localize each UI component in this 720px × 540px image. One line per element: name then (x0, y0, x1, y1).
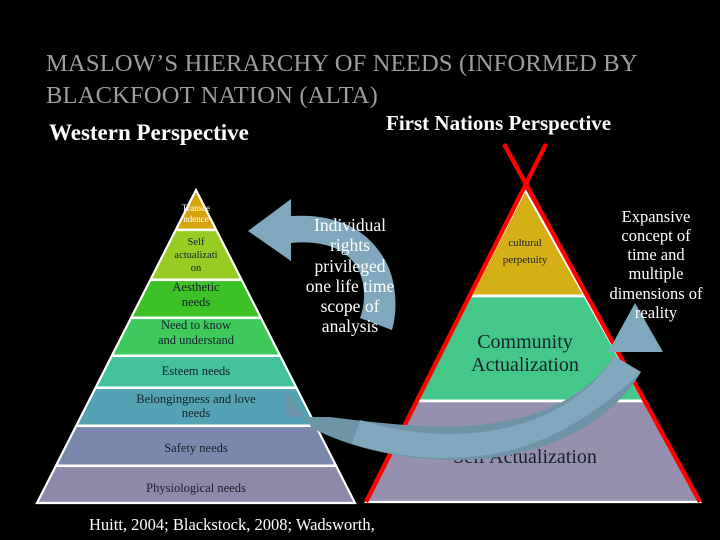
tier-label-community-actualization-line2: Actualization (471, 354, 579, 376)
citation-text: Huitt, 2004; Blackstock, 2008; Wadsworth… (89, 515, 375, 535)
tier-label-aesthetic-line1: Aesthetic (172, 280, 220, 294)
tier-label-safety-needs: Safety needs (164, 441, 228, 455)
tier-label-esteem-needs: Esteem needs (162, 364, 231, 378)
callout-first-nations: Expansive concept of time and multiple d… (596, 207, 716, 322)
tier-label-self-actualization-line3: on (191, 263, 202, 274)
tier-label-need-to-know-line1: Need to know (161, 318, 231, 332)
tier-label-belongingness-line1: Belongingness and love (136, 392, 256, 406)
tier-label-need-to-know-line2: and understand (158, 333, 235, 347)
tier-label-aesthetic-line2: needs (182, 295, 211, 309)
tier-label-self-actualization-line2: actualizati (174, 250, 217, 261)
tier-label-community-actualization-line1: Community (477, 331, 573, 353)
tier-label-cultural-perpetuity-line2: perpetuity (503, 254, 548, 266)
tier-label-physiological-needs: Physiological needs (146, 481, 246, 495)
tier-label-transcendence-line2: ndence (183, 214, 208, 224)
tier-label-belongingness-line2: needs (182, 406, 211, 420)
tier-label-transcendence-line1: Transce (182, 203, 210, 213)
tier-label-self-actualization-line1: Self (188, 237, 205, 248)
tier-label-cultural-perpetuity-line1: cultural (508, 237, 542, 249)
slide-canvas: MASLOW’S HIERARCHY OF NEEDS (INFORMED BY… (0, 0, 720, 540)
callout-western: Individual rights privileged one life ti… (294, 215, 406, 337)
